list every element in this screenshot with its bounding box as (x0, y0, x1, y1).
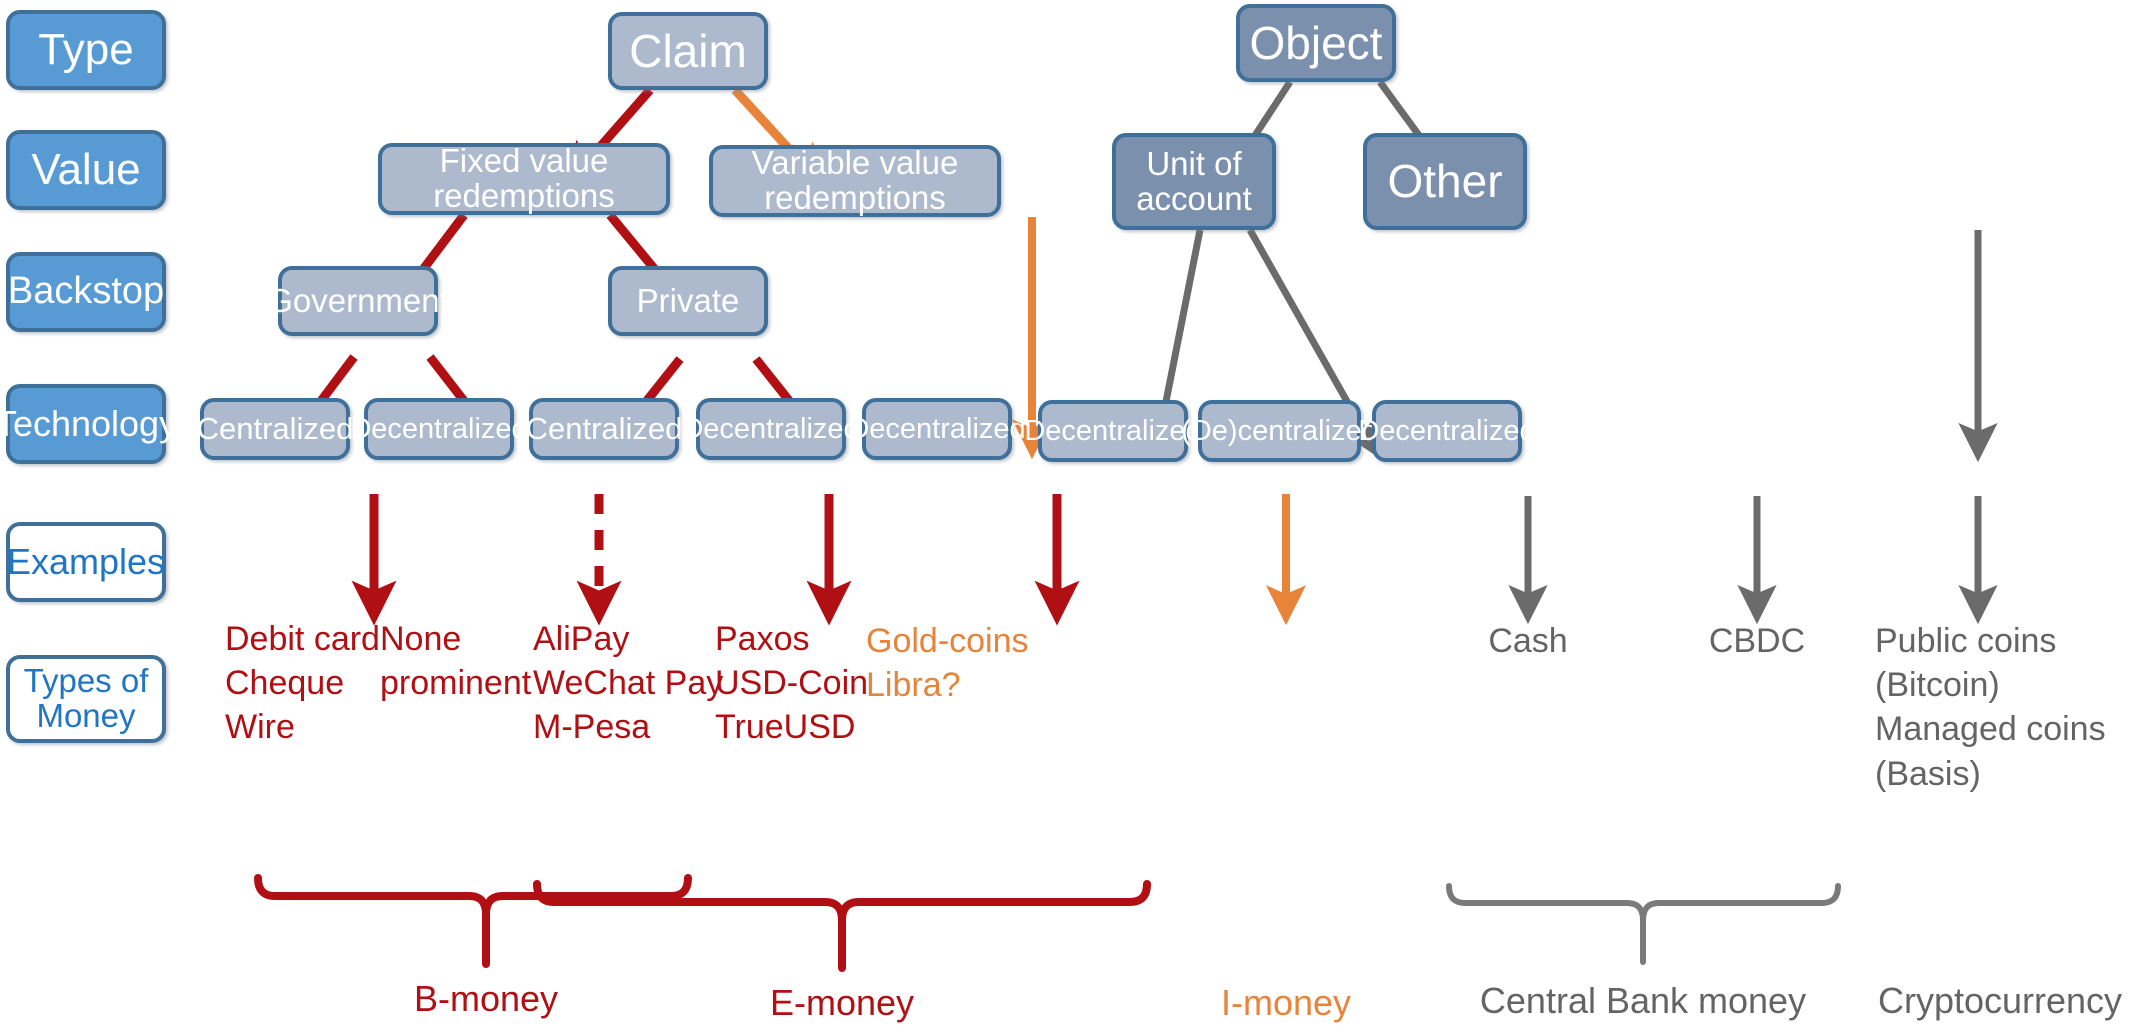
row-label-type: Type (6, 10, 166, 90)
node-private-label: Private (637, 284, 740, 319)
row-label-backstop-text: Backstop (8, 272, 164, 312)
node-object-label: Object (1250, 19, 1383, 67)
connector-layer (0, 0, 2145, 1033)
node-government[interactable]: Government (278, 266, 438, 336)
example-cash: Cash (1453, 619, 1603, 663)
node-other-label: Other (1387, 157, 1502, 205)
node-tech-decentralized-priv-label: Decentralized (682, 414, 859, 444)
node-tech-decentralized-ivalue[interactable]: Decentralized (862, 398, 1012, 460)
node-tech-de-centralized-unit[interactable]: (De)centralized (1198, 400, 1361, 462)
node-tech-centralized-priv-label: Centralized (526, 413, 683, 446)
money-type-i-money: I-money (1186, 980, 1386, 1027)
row-label-value: Value (6, 130, 166, 210)
node-tech-de-centralized-unit-label: (De)centralized (1181, 416, 1378, 446)
row-label-types-of-money: Types of Money (6, 655, 166, 743)
row-label-backstop: Backstop (6, 252, 166, 332)
diagram-canvas: Type Value Backstop Technology Examples … (0, 0, 2145, 1033)
node-tech-centralized-gov-label: Centralized (197, 413, 354, 446)
node-government-label: Government (267, 284, 449, 319)
example-cbdc: CBDC (1682, 619, 1832, 663)
node-variable-value-redemptions[interactable]: Variable value redemptions (709, 145, 1001, 217)
brace-b-money (258, 878, 688, 914)
node-tech-centralized-gov[interactable]: Centralized (200, 398, 350, 460)
node-fixed-value-redemptions[interactable]: Fixed value redemptions (378, 143, 670, 215)
node-unit-of-account-label: Unit of account (1136, 147, 1252, 216)
node-variable-value-redemptions-label: Variable value redemptions (713, 146, 997, 215)
node-tech-decentralized-priv[interactable]: Decentralized (696, 398, 846, 460)
row-label-types-of-money-text: Types of Money (24, 664, 149, 733)
row-label-type-text: Type (38, 27, 133, 73)
node-tech-decentralized-ivalue-label: Decentralized (848, 414, 1025, 444)
row-label-technology: Technology (6, 384, 166, 464)
brace-central-bank-money (1449, 886, 1838, 920)
node-tech-decentralized-gov[interactable]: Decentralized (364, 398, 514, 460)
money-type-b-money: B-money (386, 976, 586, 1023)
row-label-examples-text: Examples (7, 543, 165, 581)
node-tech-decentralized-other-label: Decentralized (1358, 416, 1535, 446)
example-i-money: Gold-coins Libra? (866, 619, 1116, 707)
money-type-cryptocurrency: Cryptocurrency (1860, 978, 2140, 1025)
brace-e-money (537, 884, 1147, 920)
node-unit-of-account[interactable]: Unit of account (1112, 133, 1276, 230)
row-label-value-text: Value (31, 147, 140, 193)
money-type-e-money: E-money (742, 980, 942, 1027)
money-type-central-bank-money: Central Bank money (1478, 978, 1808, 1025)
node-tech-decentralized-unit[interactable]: Decentralized (1038, 400, 1188, 462)
node-private[interactable]: Private (608, 266, 768, 336)
node-tech-decentralized-other[interactable]: Decentralized (1372, 400, 1522, 462)
row-label-technology-text: Technology (0, 405, 177, 443)
row-label-examples: Examples (6, 522, 166, 602)
node-claim-label: Claim (629, 27, 747, 75)
node-claim[interactable]: Claim (608, 12, 768, 90)
node-tech-decentralized-unit-label: Decentralized (1024, 416, 1201, 446)
example-cryptocurrency: Public coins (Bitcoin) Managed coins (Ba… (1875, 619, 2145, 796)
node-tech-centralized-priv[interactable]: Centralized (529, 398, 679, 460)
node-other[interactable]: Other (1363, 133, 1527, 230)
node-tech-decentralized-gov-label: Decentralized (350, 414, 527, 444)
node-object[interactable]: Object (1236, 4, 1396, 82)
node-fixed-value-redemptions-label: Fixed value redemptions (382, 144, 666, 213)
